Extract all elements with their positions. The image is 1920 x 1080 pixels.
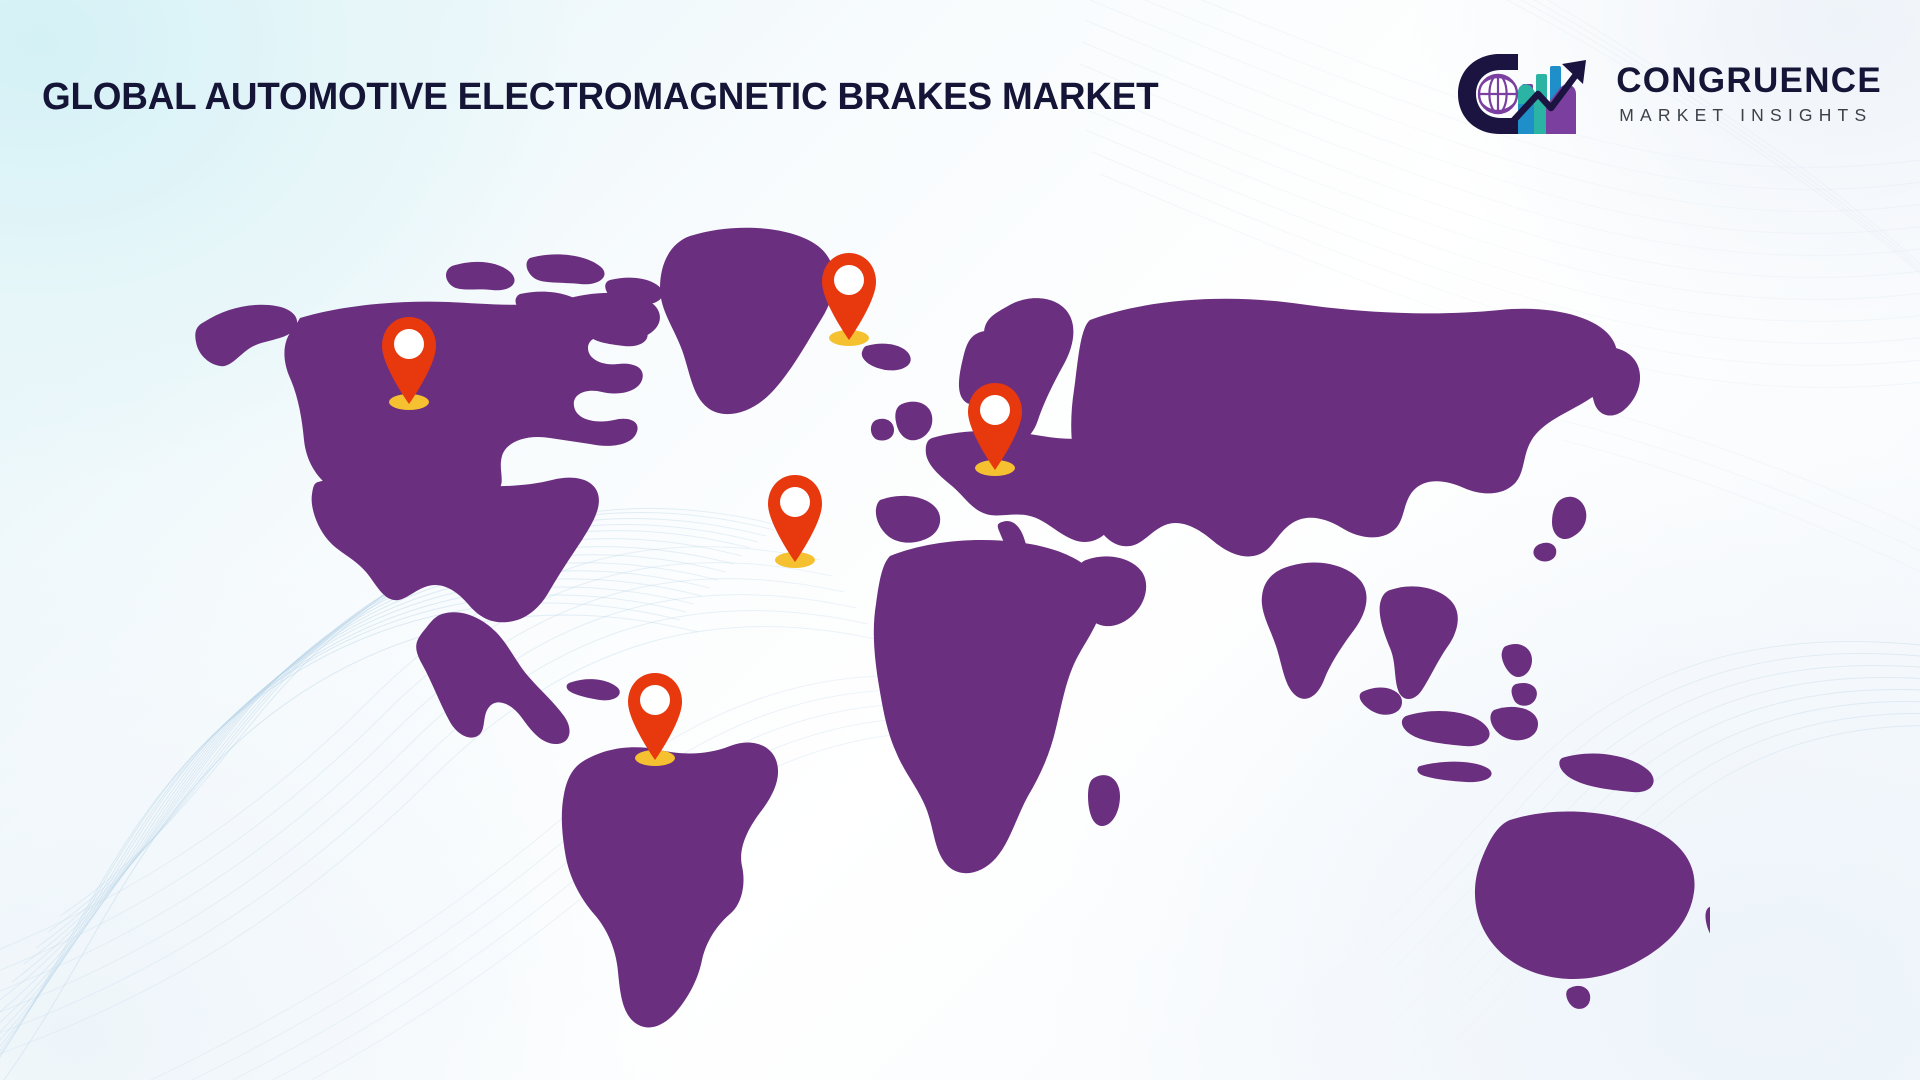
marker-europe[interactable] (812, 248, 886, 348)
marker-middle-east-africa[interactable] (758, 470, 832, 570)
marker-south-america[interactable] (618, 668, 692, 768)
world-map-icon (190, 170, 1710, 1050)
poster-canvas: GLOBAL AUTOMOTIVE ELECTROMAGNETIC BRAKES… (0, 0, 1920, 1080)
world-map-container (0, 0, 1920, 1080)
marker-north-america[interactable] (372, 312, 446, 412)
marker-asia-pacific[interactable] (958, 378, 1032, 478)
